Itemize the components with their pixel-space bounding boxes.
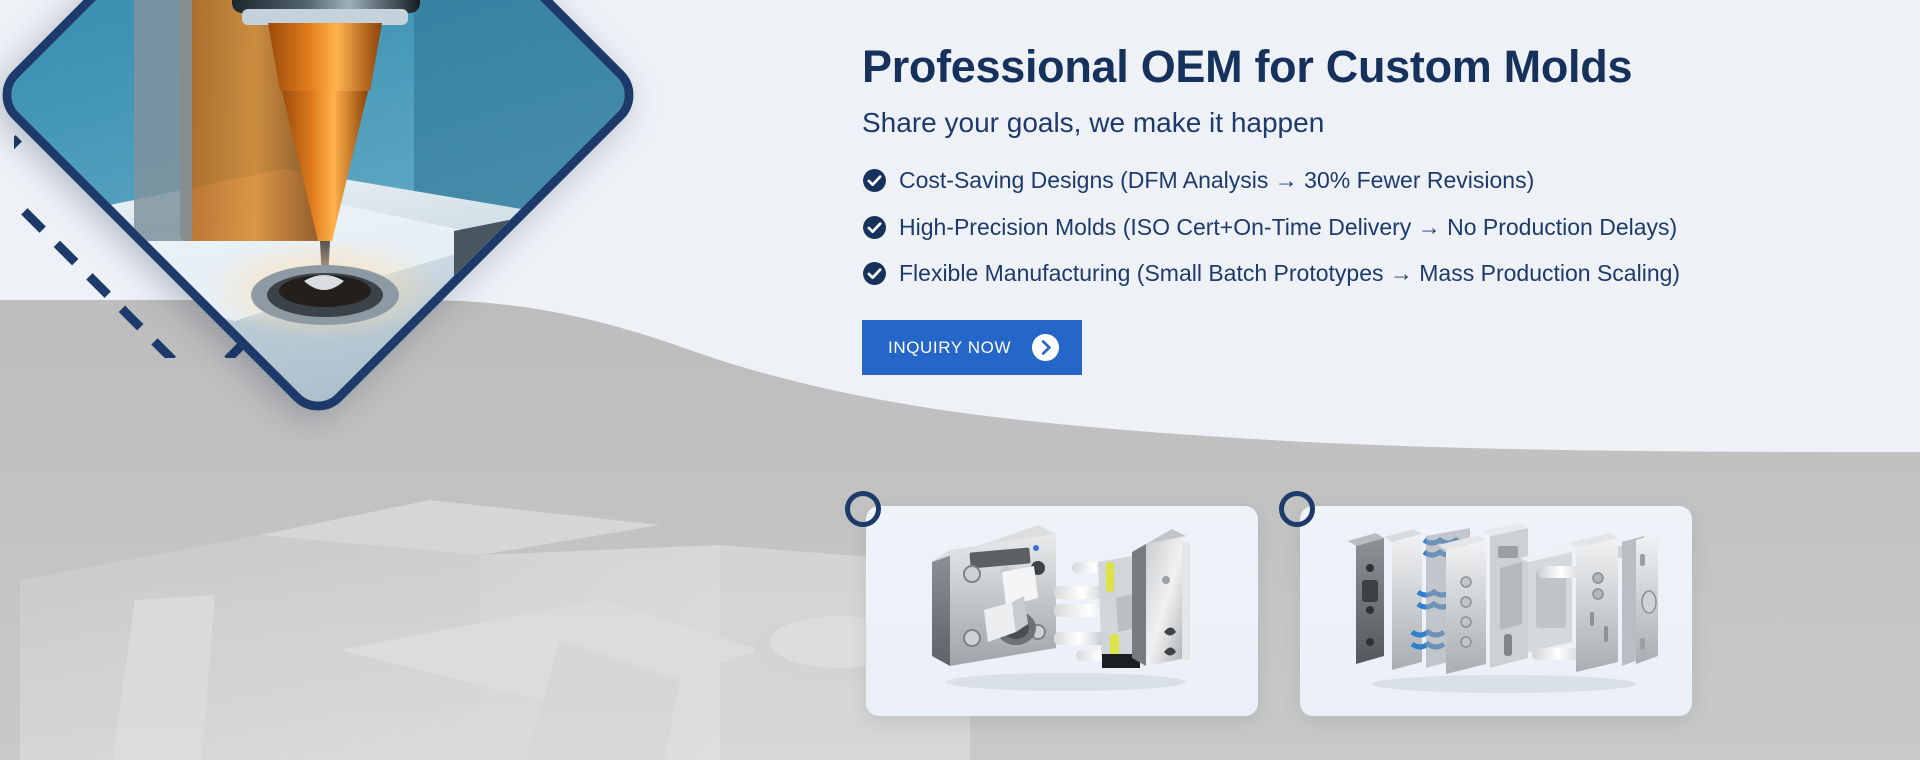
page-title: Professional OEM for Custom Molds: [862, 42, 1872, 92]
product-card-2-wrapper: [1300, 506, 1692, 716]
check-circle-icon: [862, 168, 887, 193]
product-card-1[interactable]: [866, 506, 1258, 716]
banner-content: Professional OEM for Custom Molds Share …: [862, 42, 1872, 375]
check-circle-icon: [862, 261, 887, 286]
inquiry-now-button[interactable]: INQUIRY NOW: [862, 320, 1082, 375]
injection-mold-image-1: [866, 506, 1258, 716]
list-item: Flexible Manufacturing (Small Batch Prot…: [862, 259, 1872, 288]
product-card-1-wrapper: [866, 506, 1258, 716]
product-card-list: [866, 506, 1692, 716]
injection-mold-image-2: [1300, 506, 1692, 716]
ring-marker-icon: [1278, 490, 1316, 528]
list-item: Cost-Saving Designs (DFM Analysis → 30% …: [862, 166, 1872, 195]
feature-text: Flexible Manufacturing (Small Batch Prot…: [899, 259, 1680, 288]
check-circle-icon: [862, 215, 887, 240]
feature-text: High-Precision Molds (ISO Cert+On-Time D…: [899, 213, 1677, 242]
feature-list: Cost-Saving Designs (DFM Analysis → 30% …: [862, 166, 1872, 288]
inquiry-now-label: INQUIRY NOW: [888, 338, 1011, 358]
feature-text: Cost-Saving Designs (DFM Analysis → 30% …: [899, 166, 1534, 195]
ring-marker-icon: [844, 490, 882, 528]
hero-banner: Professional OEM for Custom Molds Share …: [0, 0, 1920, 760]
subtitle: Share your goals, we make it happen: [862, 106, 1872, 140]
list-item: High-Precision Molds (ISO Cert+On-Time D…: [862, 213, 1872, 242]
arrow-right-circle-icon: [1031, 333, 1060, 362]
product-card-2[interactable]: [1300, 506, 1692, 716]
